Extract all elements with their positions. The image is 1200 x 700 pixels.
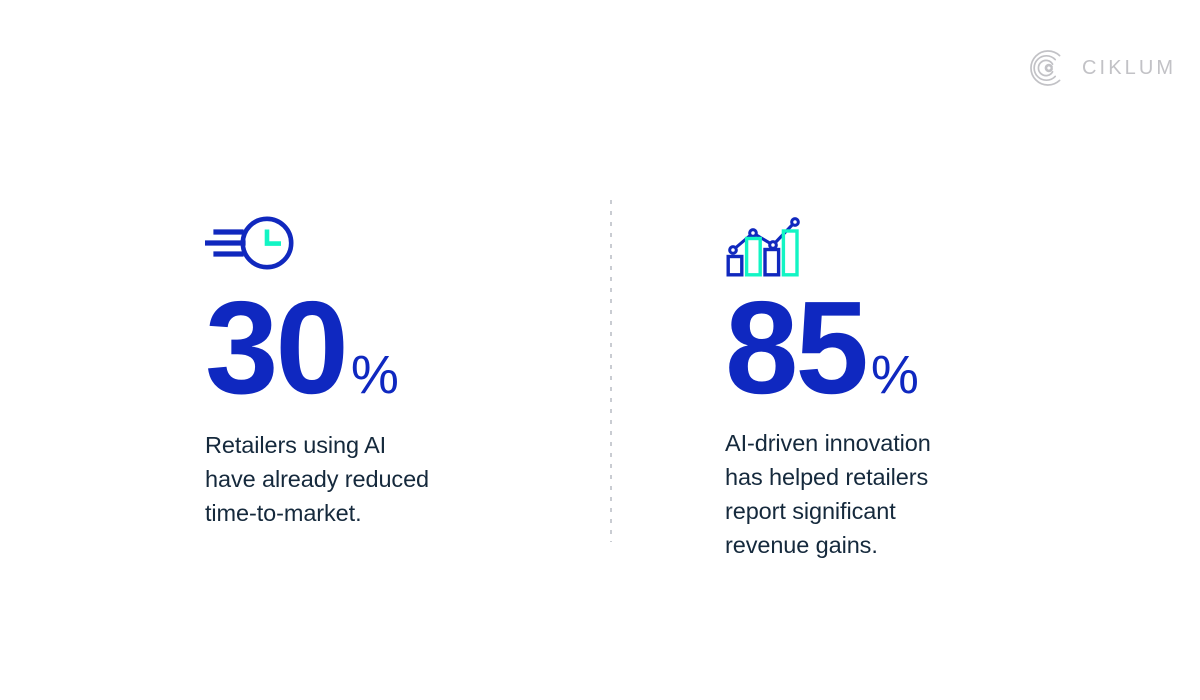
caption-line: Retailers using AI [205,428,535,462]
stat-unit: % [351,348,399,402]
slide-canvas: CIKLUM 30 % Retailers using AI have alre… [0,0,1200,700]
caption-line: revenue gains. [725,528,1055,562]
stat-value: 85 [725,294,866,402]
stat-figure: 30 % [205,294,535,402]
stat-unit: % [871,348,919,402]
speed-clock-icon [205,212,305,274]
stat-figure: 85 % [725,294,1055,402]
column-divider [610,200,612,542]
caption-line: have already reduced [205,462,535,496]
stat-caption: AI-driven innovation has helped retailer… [725,426,1055,562]
caption-line: time-to-market. [205,496,535,530]
stat-value: 30 [205,294,346,402]
caption-line: AI-driven innovation [725,426,1055,460]
caption-line: report significant [725,494,1055,528]
stat-card-30-percent: 30 % Retailers using AI have already red… [205,212,535,530]
stat-card-85-percent: 85 % AI-driven innovation has helped ret… [725,206,1055,562]
stat-caption: Retailers using AI have already reduced … [205,428,535,530]
brand-logo: CIKLUM [1028,48,1176,88]
bar-chart-trendline-icon [725,206,805,278]
ciklum-arc-c-logo-icon [1028,48,1068,88]
brand-wordmark: CIKLUM [1082,58,1176,78]
caption-line: has helped retailers [725,460,1055,494]
